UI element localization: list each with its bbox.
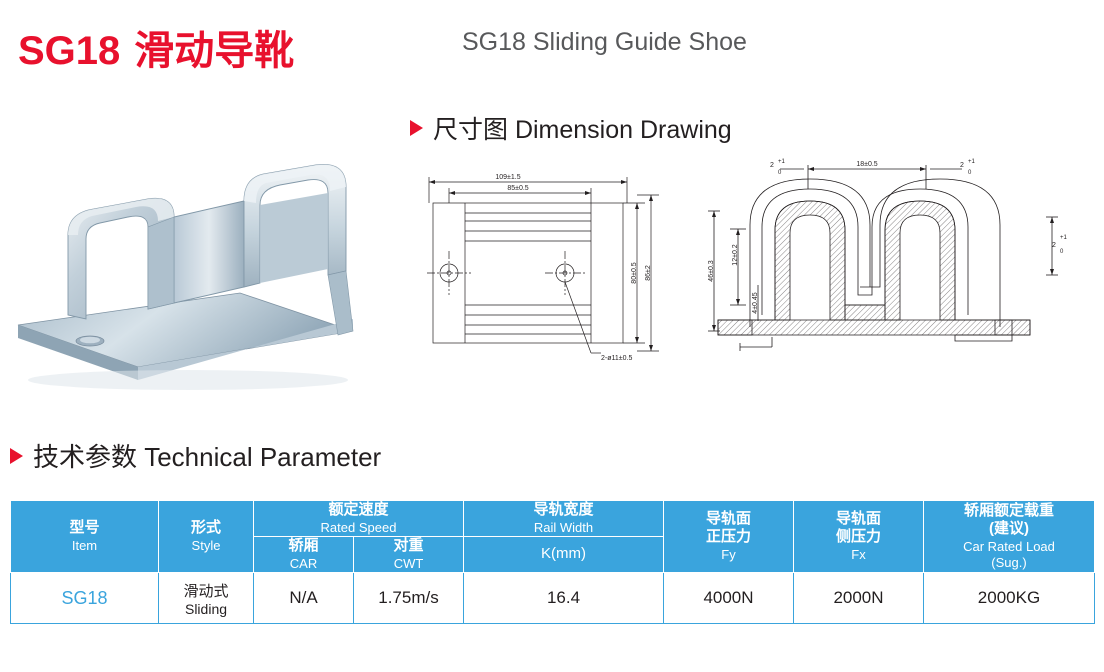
dim-tab-left-tol-dn: 0 xyxy=(778,170,782,176)
dimension-drawing-front-view: 109±1.5 85±0.5 80±0.5 86±2 2-ø11±0.5 xyxy=(405,155,695,390)
cell-car: N/A xyxy=(254,573,354,624)
dim-tab-right: 2 xyxy=(960,162,964,169)
dim-right-2: 2 xyxy=(1052,242,1056,249)
title-chinese: 滑动导靴 xyxy=(134,29,294,73)
triangle-bullet-icon xyxy=(10,448,23,464)
section-dimension-label: 尺寸图 Dimension Drawing xyxy=(433,110,732,146)
header-rated-speed: 额定速度 Rated Speed xyxy=(254,501,464,537)
section-heading-dimension: 尺寸图 Dimension Drawing xyxy=(410,110,732,146)
dim-hole-note: 2-ø11±0.5 xyxy=(601,355,632,362)
header-car-rated-load: 轿厢额定载重 (建议) Car Rated Load (Sug.) xyxy=(924,501,1095,573)
header-fx: 导轨面 侧压力 Fx xyxy=(794,501,924,573)
cell-cwt: 1.75m/s xyxy=(354,573,464,624)
header-car: 轿厢 CAR xyxy=(254,537,354,573)
dim-height-86: 86±2 xyxy=(645,265,652,281)
table-header-row-1: 型号 Item 形式 Style 额定速度 Rated Speed 导轨宽度 R… xyxy=(11,501,1095,537)
dim-right-2-tol-dn: 0 xyxy=(1060,249,1064,255)
dim-tab-right-tol-dn: 0 xyxy=(968,170,972,176)
header-rail-width: 导轨宽度 Rail Width xyxy=(464,501,664,537)
dim-12: 12±0.2 xyxy=(732,244,739,265)
triangle-bullet-icon xyxy=(410,120,423,136)
header-style: 形式 Style xyxy=(159,501,254,573)
dim-height-80: 80±0.5 xyxy=(631,262,638,283)
header-k-mm: K(mm) xyxy=(464,537,664,573)
cell-k: 16.4 xyxy=(464,573,664,624)
section-technical-label: 技术参数 Technical Parameter xyxy=(33,437,381,474)
cell-fx: 2000N xyxy=(794,573,924,624)
product-photo xyxy=(8,135,398,400)
dim-overall-width: 109±1.5 xyxy=(495,174,520,181)
dim-46: 46±0.3 xyxy=(708,260,715,281)
table-row: SG18 滑动式 Sliding N/A 1.75m/s 16.4 4000N … xyxy=(11,573,1095,624)
dim-inner-width: 85±0.5 xyxy=(507,185,528,192)
dim-tab-right-tol-up: +1 xyxy=(968,159,976,165)
model-code: SG18 xyxy=(18,29,120,73)
section-heading-technical: 技术参数 Technical Parameter xyxy=(10,437,381,474)
dim-4: 4±0.45 xyxy=(752,292,759,313)
page-title: SG18滑动导靴 xyxy=(18,18,294,76)
technical-parameter-table: 型号 Item 形式 Style 额定速度 Rated Speed 导轨宽度 R… xyxy=(10,500,1095,624)
header-item: 型号 Item xyxy=(11,501,159,573)
dim-center-18: 18±0.5 xyxy=(856,161,877,168)
header-fy: 导轨面 正压力 Fy xyxy=(664,501,794,573)
dimension-drawing-cross-section: +1 2 0 18±0.5 +1 2 0 46±0.3 12±0.2 4±0.4… xyxy=(700,155,1100,390)
dim-right-2-tol-up: +1 xyxy=(1060,235,1068,241)
cell-fy: 4000N xyxy=(664,573,794,624)
cell-item: SG18 xyxy=(11,573,159,624)
page-subtitle: SG18 Sliding Guide Shoe xyxy=(462,28,747,57)
dim-tab-left: 2 xyxy=(770,162,774,169)
header-cwt: 对重 CWT xyxy=(354,537,464,573)
dim-tab-left-tol-up: +1 xyxy=(778,159,786,165)
cell-style: 滑动式 Sliding xyxy=(159,573,254,624)
cell-load: 2000KG xyxy=(924,573,1095,624)
